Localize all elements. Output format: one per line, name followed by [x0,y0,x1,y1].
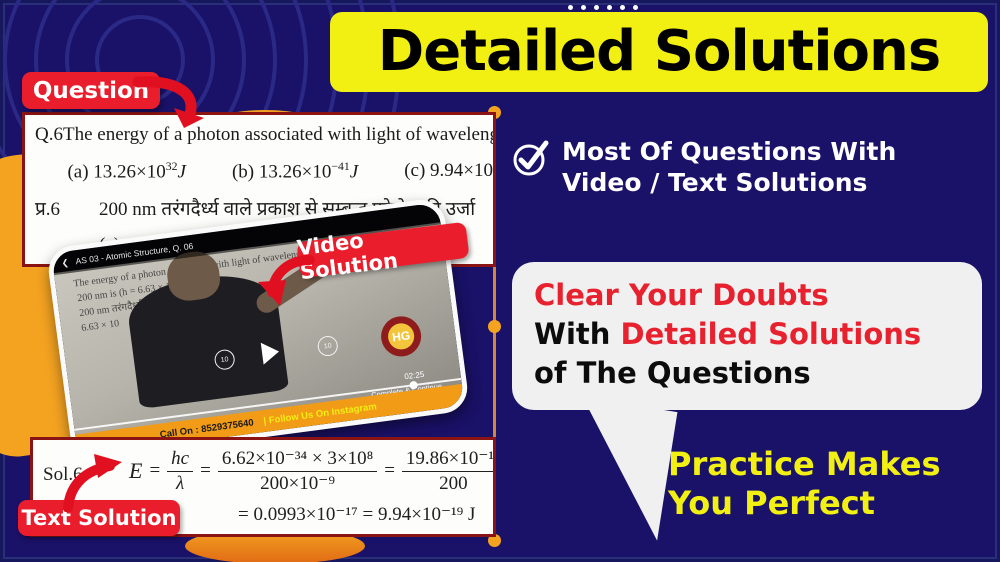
fraction-substituted: 6.62×10⁻³⁴ × 3×10⁸ 200×10⁻⁹ [218,448,377,495]
equals-2: = [200,460,211,482]
option-b-en: (b) 13.26×10−41J [232,160,358,183]
spacer-a [25,160,67,183]
back-chevron-icon[interactable]: ❮ [61,257,69,269]
solution-final-line: = 0.0993×10⁻¹⁷ = 9.94×10⁻¹⁹ J [238,503,475,526]
divider-dot-middle [488,320,501,333]
practice-line-2: You Perfect [668,484,940,523]
frac1-denominator: λ [172,472,188,495]
speech-bubble-tail [539,393,678,540]
skip-forward-icon[interactable]: 10 [317,335,339,357]
bubble-line-2-black: With [534,317,621,351]
video-solution-arrow-icon [240,252,316,312]
equals-1: = [149,460,160,482]
fraction-reduced: 19.86×10⁻¹⁷ 200 [402,448,496,495]
feature-line-2: Video / Text Solutions [562,167,896,198]
fraction-hc-lambda: hc λ [167,448,193,495]
question-text-en: The energy of a photon associated with l… [63,124,496,146]
bubble-line-2-red: Detailed Solutions [621,317,922,351]
poster-canvas: Detailed Solutions Q.6 The energy of a p… [0,0,1000,562]
bubble-line-3: of The Questions [534,354,982,393]
frac2-numerator: 6.62×10⁻³⁴ × 3×10⁸ [218,448,377,472]
feature-line-1: Most Of Questions With [562,136,896,167]
header-dots-decoration [568,5,638,10]
play-button[interactable] [261,341,281,365]
option-a-en: (a) 13.26×1032J [67,160,186,183]
bubble-line-1: Clear Your Doubts [534,276,982,315]
speech-bubble: Clear Your Doubts With Detailed Solution… [512,262,982,410]
practice-line-1: Practice Makes [668,445,940,484]
question-arrow-icon [130,74,210,130]
options-row-en: (a) 13.26×1032J (b) 13.26×10−41J (c) 9.9… [67,160,493,183]
bubble-line-2: With Detailed Solutions [534,315,982,354]
question-number-hi: प्र.6 [25,195,99,221]
page-title-banner: Detailed Solutions [330,12,988,92]
feature-row: Most Of Questions With Video / Text Solu… [512,136,986,199]
frac2-denominator: 200×10⁻⁹ [256,472,339,495]
equals-3: = [384,460,395,482]
question-number: Q.6 [25,124,63,146]
feature-text: Most Of Questions With Video / Text Solu… [562,136,896,199]
frac3-denominator: 200 [435,472,472,495]
practice-slogan: Practice Makes You Perfect [668,445,940,523]
institute-seal: HG [379,314,424,359]
frac3-numerator: 19.86×10⁻¹⁷ [402,448,496,472]
frac1-numerator: hc [167,448,193,472]
check-circle-icon [512,140,550,182]
text-solution-arrow-icon [56,452,132,512]
solution-equation: E = hc λ = 6.62×10⁻³⁴ × 3×10⁸ 200×10⁻⁹ =… [129,448,496,495]
page-title: Detailed Solutions [378,24,940,80]
option-c-en: (c) 9.94×10 [404,160,493,183]
